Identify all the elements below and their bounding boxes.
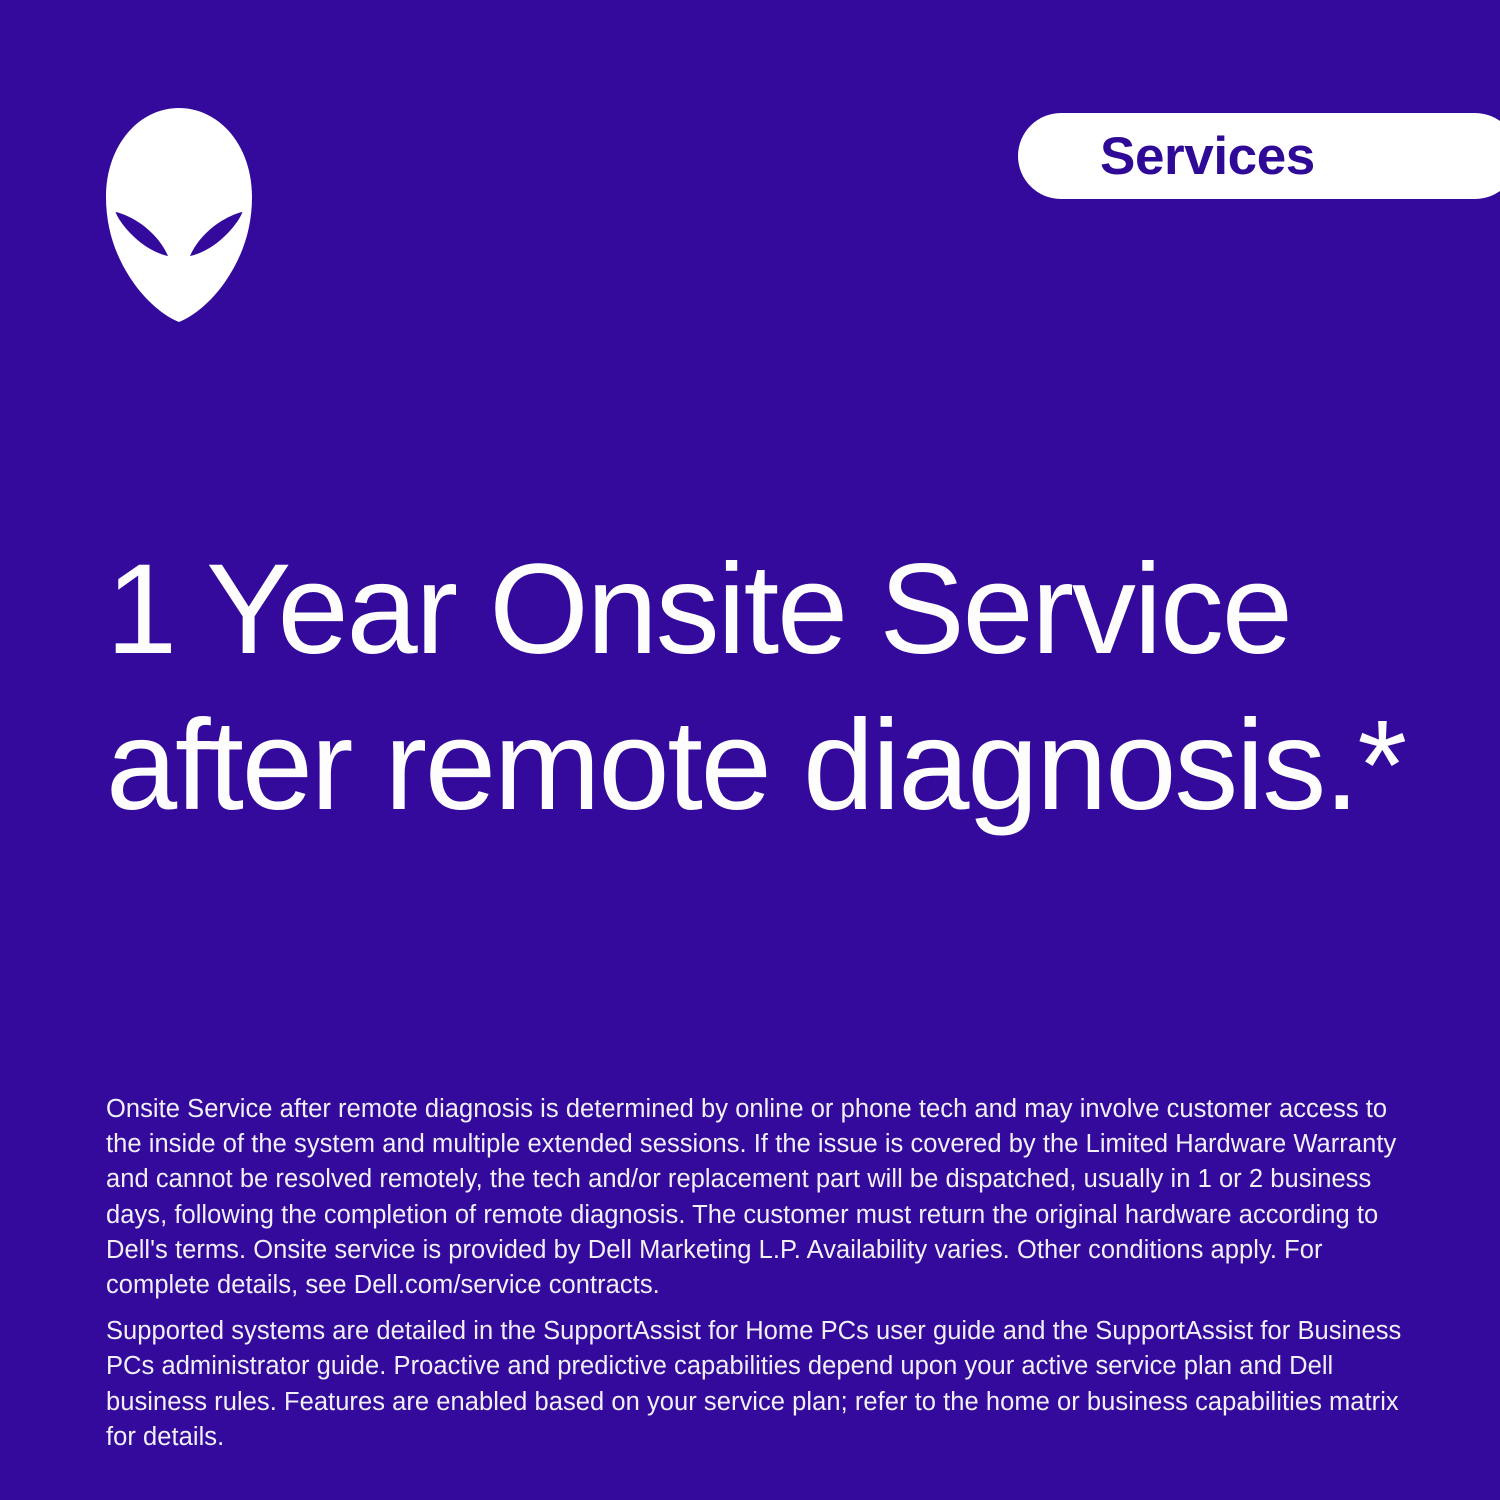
legal-disclaimer: Onsite Service after remote diagnosis is… bbox=[106, 1092, 1418, 1455]
marketing-card: Services 1 Year Onsite Service after rem… bbox=[0, 0, 1500, 1500]
services-badge-label: Services bbox=[1100, 130, 1315, 183]
page-title: 1 Year Onsite Service after remote diagn… bbox=[106, 532, 1416, 844]
services-badge: Services bbox=[1018, 113, 1500, 199]
alienware-alien-head-icon bbox=[106, 108, 252, 322]
legal-paragraph: Onsite Service after remote diagnosis is… bbox=[106, 1092, 1418, 1303]
legal-paragraph: Supported systems are detailed in the Su… bbox=[106, 1314, 1418, 1455]
